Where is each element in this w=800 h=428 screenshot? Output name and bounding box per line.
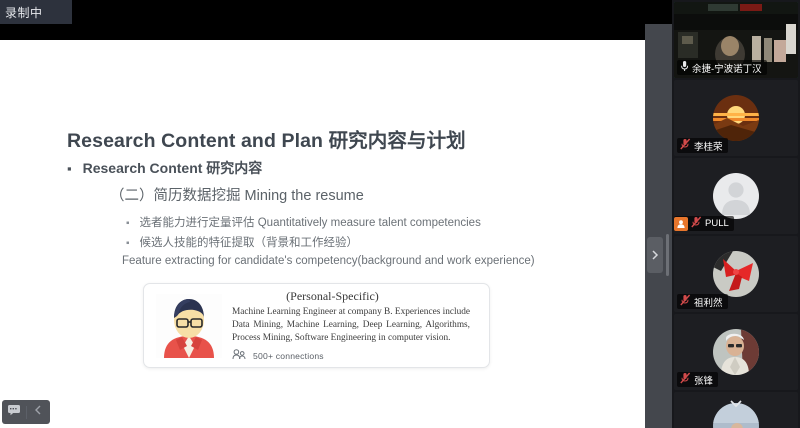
people-icon <box>232 347 246 365</box>
participant-name-0: 余捷-宁波诺丁汉 <box>692 61 762 75</box>
participant-sidebar[interactable]: 余捷-宁波诺丁汉 <box>672 0 800 428</box>
participant-name-4: 张锋 <box>694 373 713 387</box>
annotation-button[interactable] <box>2 400 26 424</box>
recording-indicator: 录制中 <box>0 0 72 24</box>
mic-off-icon <box>691 215 702 233</box>
bullet-marker-icon: ▪ <box>67 162 72 175</box>
bullet-marker-icon: ▪ <box>126 219 130 229</box>
participant-tile-0[interactable]: 余捷-宁波诺丁汉 <box>674 2 798 78</box>
mic-off-icon <box>680 293 691 311</box>
slide-bullet-level3-2-text: 候选人技能的特征提取（背景和工作经验） <box>140 234 359 250</box>
participant-namebar-0: 余捷-宁波诺丁汉 <box>677 60 767 75</box>
collapse-toolbar-button[interactable] <box>27 400 51 424</box>
chevron-left-icon <box>34 403 42 421</box>
slide-title: Research Content and Plan 研究内容与计划 <box>67 124 466 153</box>
slide-bullet-level1: ▪ Research Content 研究内容 <box>67 158 262 178</box>
slide-bullet-level1-text: Research Content 研究内容 <box>83 158 263 178</box>
resume-card-heading: (Personal-Specific) <box>232 289 433 304</box>
bullet-marker-icon: ▪ <box>126 239 130 249</box>
participant-namebar-2: PULL <box>674 216 734 231</box>
annotation-icon <box>7 403 21 421</box>
participant-namebar-4: 张锋 <box>677 372 718 387</box>
slide-bullet-level2: （二）简历数据挖掘 Mining the resume <box>110 184 364 205</box>
panel-expand-button[interactable] <box>647 237 663 273</box>
slide-bullet-level3-1: ▪ 选者能力进行定量评估 Quantitatively measure tale… <box>126 214 481 230</box>
participant-tile-4[interactable]: 张锋 <box>674 314 798 390</box>
connections-label: 500+ connections <box>253 351 324 361</box>
resume-card-description: Machine Learning Engineer at company B. … <box>232 306 470 346</box>
resume-card-body: (Personal-Specific) Machine Learning Eng… <box>232 289 479 346</box>
avatar <box>713 251 759 297</box>
participant-tile-5[interactable] <box>674 392 798 428</box>
participant-namebar-1: 李桂荣 <box>677 138 728 153</box>
slide-note-text: Feature extracting for candidate's compe… <box>122 255 535 267</box>
shared-screen-stage: Research Content and Plan 研究内容与计划 ▪ Rese… <box>0 24 672 428</box>
participant-name-3: 祖利然 <box>694 295 723 309</box>
share-side-strip <box>645 24 672 428</box>
floating-toolbar <box>2 400 50 424</box>
panel-resize-handle[interactable] <box>666 234 669 276</box>
participant-tile-3[interactable]: 祖利然 <box>674 236 798 312</box>
chevron-down-icon[interactable] <box>729 395 743 413</box>
mic-off-icon <box>680 371 691 389</box>
avatar <box>713 329 759 375</box>
slide-bullet-level3-1-text: 选者能力进行定量评估 Quantitatively measure talent… <box>140 214 481 230</box>
slide-bullet-level3-2: ▪ 候选人技能的特征提取（背景和工作经验） <box>126 234 358 250</box>
mic-off-icon <box>680 137 691 155</box>
person-illustration-avatar-icon <box>156 294 222 358</box>
participant-name-1: 李桂荣 <box>694 139 723 153</box>
resume-card-connections: 500+ connections <box>232 347 324 365</box>
avatar <box>713 173 759 219</box>
chevron-right-icon <box>651 249 659 261</box>
host-person-icon <box>674 217 688 231</box>
resume-card: (Personal-Specific) Machine Learning Eng… <box>143 283 490 368</box>
participant-tile-2[interactable]: PULL <box>674 158 798 234</box>
participant-name-2: PULL <box>705 218 729 229</box>
participant-tile-1[interactable]: 李桂荣 <box>674 80 798 156</box>
presentation-slide: Research Content and Plan 研究内容与计划 ▪ Rese… <box>0 40 645 428</box>
avatar <box>713 95 759 141</box>
participant-namebar-3: 祖利然 <box>677 294 728 309</box>
recording-label: 录制中 <box>5 4 43 21</box>
zoom-meeting-window: 录制中 Research Content and Plan 研究内容与计划 ▪ … <box>0 0 800 428</box>
mic-on-icon <box>680 59 689 77</box>
